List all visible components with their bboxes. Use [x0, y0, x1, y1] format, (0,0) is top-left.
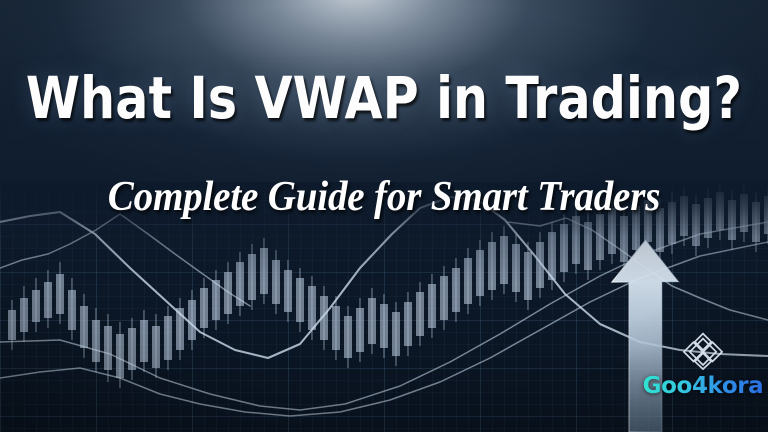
brand-logo[interactable]: Goo4kora	[640, 330, 766, 402]
page-title: What Is VWAP in Trading?	[23, 64, 745, 132]
endless-knot-icon	[680, 330, 726, 370]
brand-name: Goo4kora	[643, 373, 764, 399]
page-subtitle: Complete Guide for Smart Traders	[27, 172, 741, 222]
banner-image: What Is VWAP in Trading? Complete Guide …	[0, 0, 768, 432]
